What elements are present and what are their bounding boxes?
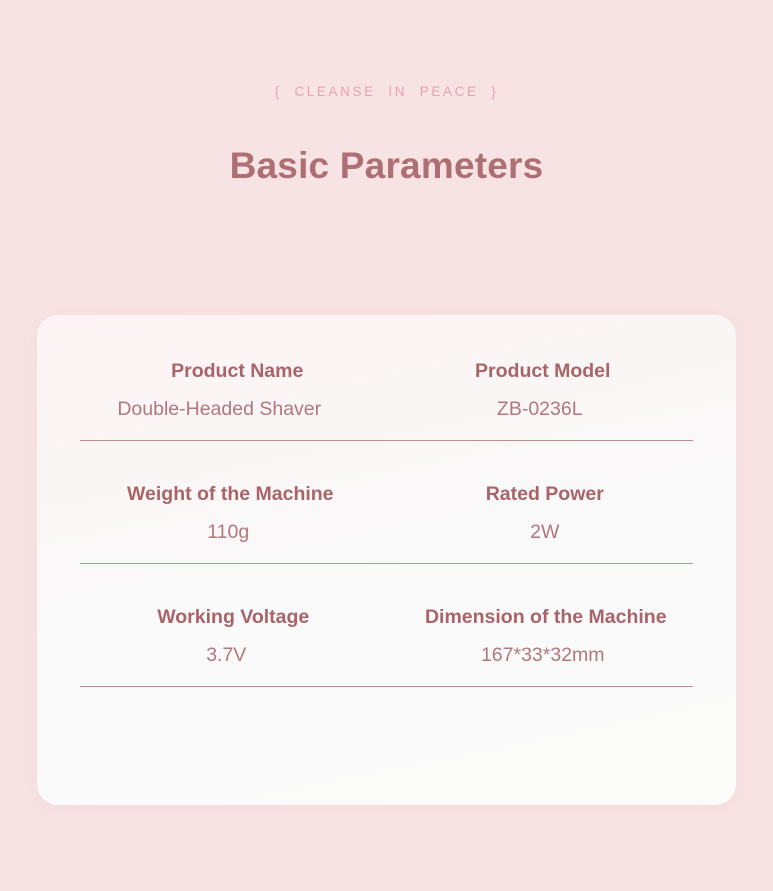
table-row: Weight of the Machine 110g Rated Power 2… (80, 485, 693, 542)
spec-cell-dimension: Dimension of the Machine 167*33*32mm (387, 608, 694, 665)
row-spacer (80, 441, 693, 485)
spec-value: 110g (75, 523, 382, 543)
spec-value: 167*33*32mm (390, 646, 697, 666)
tagline-kicker: { CLEANSE IN PEACE } (0, 84, 773, 99)
spec-row-group-1: Product Name Double-Headed Shaver Produc… (80, 362, 693, 441)
table-row: Working Voltage 3.7V Dimension of the Ma… (80, 608, 693, 665)
spec-label: Weight of the Machine (77, 485, 384, 505)
page-header: { CLEANSE IN PEACE } Basic Parameters (0, 0, 773, 187)
table-row: Product Name Double-Headed Shaver Produc… (80, 362, 693, 419)
row-spacer (80, 564, 693, 608)
spec-label: Dimension of the Machine (393, 608, 700, 628)
spec-value: Double-Headed Shaver (66, 400, 373, 420)
spec-value: 2W (392, 523, 699, 543)
page-title: Basic Parameters (0, 145, 773, 187)
spec-value: ZB-0236L (387, 400, 694, 420)
row-divider (80, 440, 693, 441)
specifications-card: Product Name Double-Headed Shaver Produc… (37, 315, 736, 805)
spec-label: Product Model (390, 362, 697, 382)
spec-cell-product-model: Product Model ZB-0236L (387, 362, 694, 419)
row-divider (80, 686, 693, 687)
spec-label: Product Name (84, 362, 391, 382)
spec-table: Product Name Double-Headed Shaver Produc… (80, 362, 693, 687)
spec-cell-working-voltage: Working Voltage 3.7V (80, 608, 387, 665)
row-divider (80, 563, 693, 564)
spec-value: 3.7V (73, 646, 380, 666)
spec-label: Working Voltage (80, 608, 387, 628)
spec-row-group-3: Working Voltage 3.7V Dimension of the Ma… (80, 608, 693, 687)
spec-cell-product-name: Product Name Double-Headed Shaver (80, 362, 387, 419)
spec-label: Rated Power (392, 485, 699, 505)
spec-row-group-2: Weight of the Machine 110g Rated Power 2… (80, 485, 693, 564)
spec-cell-weight: Weight of the Machine 110g (80, 485, 387, 542)
spec-cell-rated-power: Rated Power 2W (387, 485, 694, 542)
